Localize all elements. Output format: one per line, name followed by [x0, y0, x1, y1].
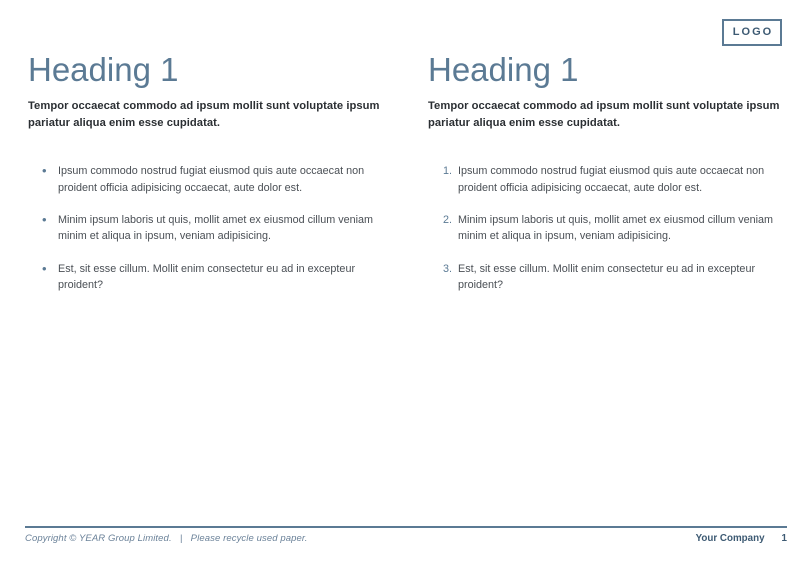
footer-company-name: Your Company: [696, 533, 765, 544]
footer: Copyright © YEAR Group Limited. | Please…: [25, 533, 787, 544]
page-title-left: Heading 1: [28, 52, 384, 89]
slide-page: LOGO Heading 1 Tempor occaecat commodo a…: [0, 0, 812, 575]
subtitle-right: Tempor occaecat commodo ad ipsum mollit …: [428, 98, 784, 131]
list-item: 3. Est, sit esse cillum. Mollit enim con…: [428, 261, 784, 294]
list-item: 1. Ipsum commodo nostrud fugiat eiusmod …: [428, 163, 784, 196]
list-number: 1.: [436, 163, 452, 179]
list-item-text: Minim ipsum laboris ut quis, mollit amet…: [58, 214, 373, 242]
page-title-right: Heading 1: [428, 52, 784, 89]
list-item-text: Ipsum commodo nostrud fugiat eiusmod qui…: [58, 165, 364, 193]
column-right: Heading 1 Tempor occaecat commodo ad ips…: [428, 52, 784, 294]
page-number: 1: [782, 533, 787, 544]
list-item-text: Est, sit esse cillum. Mollit enim consec…: [58, 263, 355, 291]
list-item: • Minim ipsum laboris ut quis, mollit am…: [28, 212, 384, 245]
bulleted-list: • Ipsum commodo nostrud fugiat eiusmod q…: [28, 163, 384, 293]
list-item: 2. Minim ipsum laboris ut quis, mollit a…: [428, 212, 784, 245]
column-left: Heading 1 Tempor occaecat commodo ad ips…: [28, 52, 384, 294]
bullet-icon: •: [42, 163, 47, 180]
list-item: • Est, sit esse cillum. Mollit enim cons…: [28, 261, 384, 294]
subtitle-left: Tempor occaecat commodo ad ipsum mollit …: [28, 98, 384, 131]
list-number: 3.: [436, 261, 452, 277]
footer-divider: [25, 526, 787, 528]
logo-text: LOGO: [731, 27, 773, 38]
footer-copyright: Copyright © YEAR Group Limited. | Please…: [25, 533, 308, 544]
numbered-list: 1. Ipsum commodo nostrud fugiat eiusmod …: [428, 163, 784, 293]
list-item-text: Est, sit esse cillum. Mollit enim consec…: [458, 263, 755, 291]
footer-meta: Your Company 1: [696, 533, 787, 544]
bullet-icon: •: [42, 261, 47, 278]
content-columns: Heading 1 Tempor occaecat commodo ad ips…: [28, 52, 784, 294]
list-item-text: Minim ipsum laboris ut quis, mollit amet…: [458, 214, 773, 242]
logo-placeholder[interactable]: LOGO: [722, 19, 782, 46]
list-item-text: Ipsum commodo nostrud fugiat eiusmod qui…: [458, 165, 764, 193]
list-number: 2.: [436, 212, 452, 228]
bullet-icon: •: [42, 212, 47, 229]
list-item: • Ipsum commodo nostrud fugiat eiusmod q…: [28, 163, 384, 196]
